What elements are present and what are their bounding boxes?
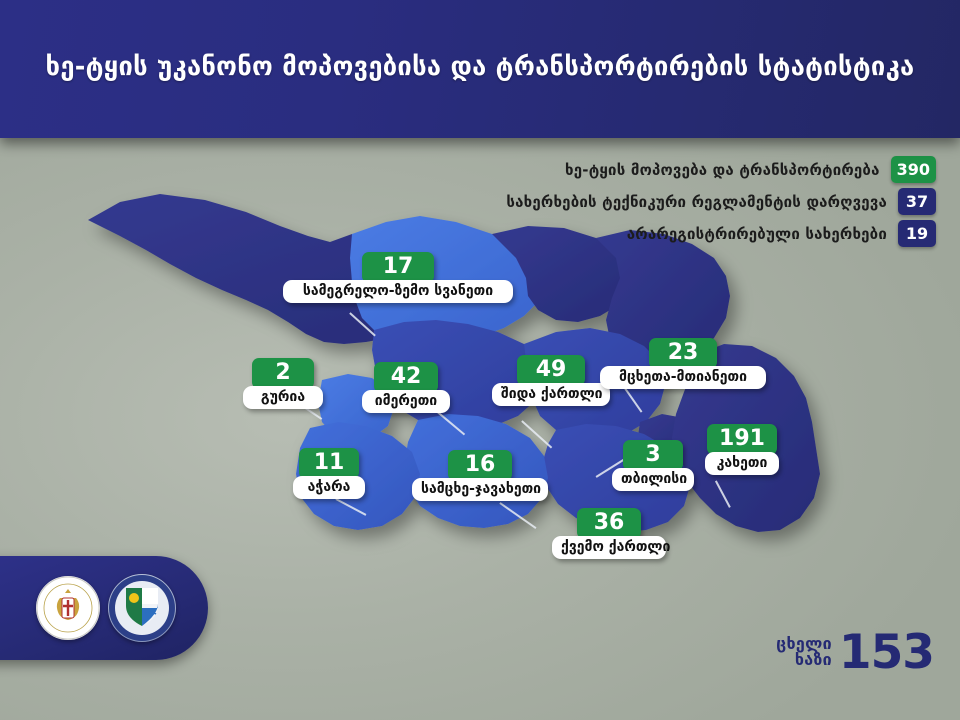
legend-label: არარეგისტრირებული სახერხები: [627, 225, 887, 243]
callout-samegrelo-zemo-svaneti[interactable]: 17 სამეგრელო-ზემო სვანეთი: [283, 252, 513, 303]
callout-kvemo-kartli[interactable]: 36 ქვემო ქართლი: [552, 508, 666, 559]
hotline: ცხელი ხაზი 153: [776, 633, 934, 672]
region-value-badge: 36: [577, 508, 641, 539]
region-value-badge: 191: [707, 424, 777, 455]
callout-kakheti[interactable]: 191 კახეთი: [705, 424, 779, 475]
region-value-badge: 11: [299, 448, 359, 479]
callout-mtskheta-mtianeti[interactable]: 23 მცხეთა-მთიანეთი: [600, 338, 766, 389]
emblem-b-art: [108, 574, 176, 642]
callout-samtskhe-javakheti[interactable]: 16 სამცხე-ჯავახეთი: [412, 450, 548, 501]
callout-imereti[interactable]: 42 იმერეთი: [362, 362, 450, 413]
callout-adjara[interactable]: 11 აჭარა: [293, 448, 365, 499]
callout-tbilisi[interactable]: 3 თბილისი: [612, 440, 694, 491]
legend-badge-value: 390: [891, 156, 936, 183]
region-value-badge: 2: [252, 358, 314, 389]
region-name-pill: ქვემო ქართლი: [552, 536, 666, 559]
region-name-pill: სამცხე-ჯავახეთი: [412, 478, 548, 501]
region-name-pill: სამეგრელო-ზემო სვანეთი: [283, 280, 513, 303]
emblem-a-art: [36, 576, 100, 640]
region-value-badge: 42: [374, 362, 438, 393]
legend-row: არარეგისტრირებული სახერხები 19: [506, 220, 936, 247]
region-value-badge: 16: [448, 450, 512, 481]
region-name-pill: მცხეთა-მთიანეთი: [600, 366, 766, 389]
legend-label: სახერხების ტექნიკური რეგლამენტის დარღვევ…: [506, 193, 887, 211]
region-value-badge: 3: [623, 440, 683, 471]
region-name-pill: შიდა ქართლი: [492, 383, 610, 406]
region-name-pill: თბილისი: [612, 468, 694, 491]
callout-shida-kartli[interactable]: 49 შიდა ქართლი: [492, 355, 610, 406]
legend-label: ხე-ტყის მოპოვება და ტრანსპორტირება: [565, 161, 880, 179]
hotline-number: 153: [839, 633, 934, 672]
logo-plate: [0, 556, 208, 660]
region-name-pill: კახეთი: [705, 452, 779, 475]
callout-guria[interactable]: 2 გურია: [243, 358, 323, 409]
region-value-badge: 49: [517, 355, 585, 386]
hotline-label: ცხელი ხაზი: [776, 636, 832, 668]
region-name-pill: იმერეთი: [362, 390, 450, 413]
legend-row: ხე-ტყის მოპოვება და ტრანსპორტირება 390: [506, 156, 936, 183]
legend-row: სახერხების ტექნიკური რეგლამენტის დარღვევ…: [506, 188, 936, 215]
header-banner: ხე-ტყის უკანონო მოპოვებისა და ტრანსპორტი…: [0, 0, 960, 138]
legend-badge-value: 37: [898, 188, 936, 215]
hotline-line-2: ხაზი: [776, 652, 832, 668]
agency-emblem-icon: [108, 574, 176, 642]
ministry-of-environment-emblem-icon: [36, 576, 100, 640]
region-name-pill: გურია: [243, 386, 323, 409]
legend-badge-value: 19: [898, 220, 936, 247]
legend: ხე-ტყის მოპოვება და ტრანსპორტირება 390 ს…: [506, 156, 936, 252]
region-name-pill: აჭარა: [293, 476, 365, 499]
page-title: ხე-ტყის უკანონო მოპოვებისა და ტრანსპორტი…: [0, 52, 960, 82]
infographic-canvas: ხე-ტყის უკანონო მოპოვებისა და ტრანსპორტი…: [0, 0, 960, 720]
region-value-badge: 17: [362, 252, 434, 283]
region-value-badge: 23: [649, 338, 717, 369]
